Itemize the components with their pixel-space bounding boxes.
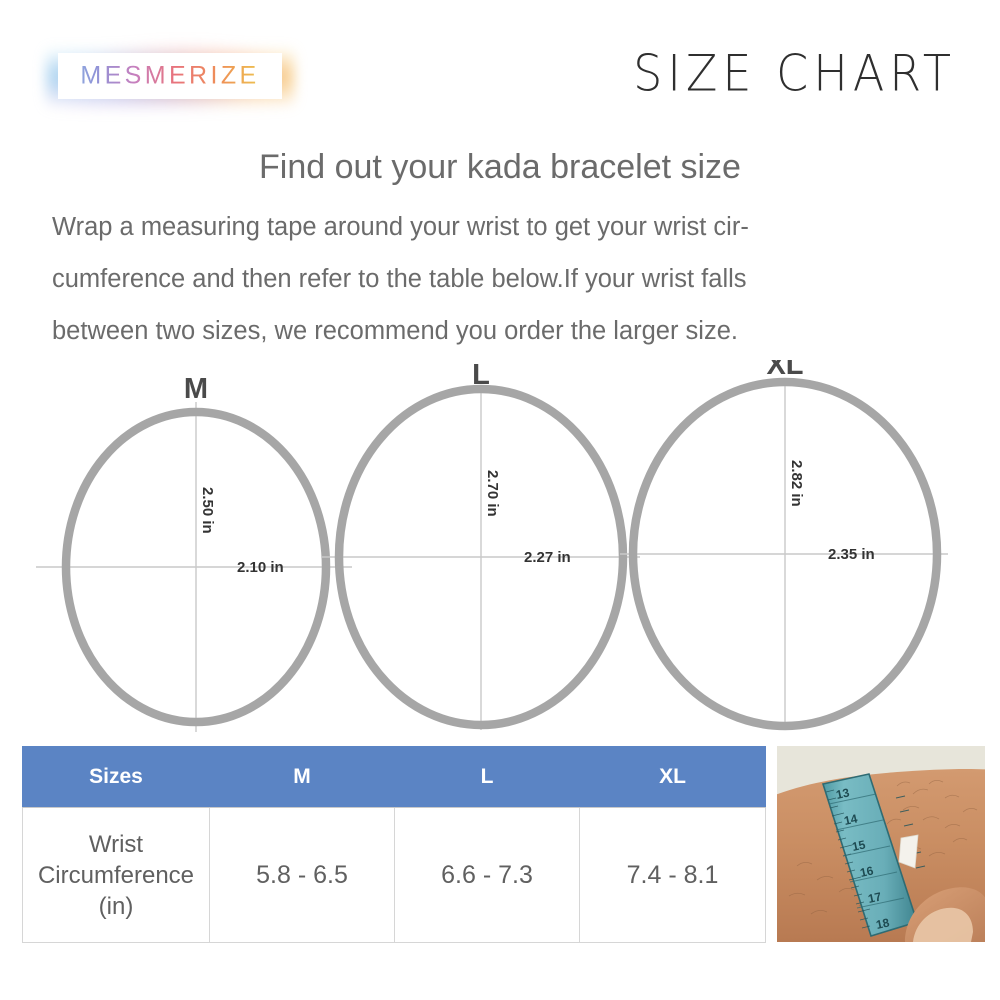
oval-diagram-m: M 2.50 in 2.10 in [36, 373, 352, 732]
oval-height-label-m: 2.50 in [199, 487, 216, 534]
oval-diagram-l: L 2.70 in 2.27 in [322, 360, 640, 730]
oval-size-label-l: L [472, 360, 490, 391]
oval-height-label-l: 2.70 in [484, 470, 501, 517]
table-header-row: Sizes M L XL [23, 747, 766, 808]
table-cell-xl-range: 7.4 - 8.1 [580, 808, 766, 943]
headline: Find out your kada bracelet size [0, 148, 1000, 187]
table-header-xl: XL [580, 747, 766, 808]
brand-logo: MESMERIZE [46, 42, 294, 110]
logo-text: MESMERIZE [46, 62, 294, 91]
wrist-measuring-tape-photo: 13 14 15 16 17 18 [777, 746, 985, 942]
page-title: SIZE CHART [633, 44, 956, 102]
oval-width-label-xl: 2.35 in [828, 546, 875, 563]
table-cell-m-range: 5.8 - 6.5 [210, 808, 395, 943]
table-header-m: M [210, 747, 395, 808]
table-cell-l-range: 6.6 - 7.3 [395, 808, 580, 943]
table-row: Wrist Circumference (in) 5.8 - 6.5 6.6 -… [23, 808, 766, 943]
oval-diagram-xl: XL 2.82 in 2.35 in [620, 360, 948, 728]
oval-size-label-m: M [184, 373, 208, 405]
oval-height-label-xl: 2.82 in [788, 460, 805, 507]
size-table: Sizes M L XL Wrist Circumference (in) 5.… [22, 746, 766, 943]
intro-paragraph: Wrap a measuring tape around your wrist … [52, 201, 950, 357]
tape-end-tab [899, 835, 918, 868]
table-header-sizes: Sizes [23, 747, 210, 808]
oval-width-label-l: 2.27 in [524, 549, 571, 566]
oval-diagram-group: M 2.50 in 2.10 in L 2.70 in 2.27 in XL 2… [0, 360, 1000, 740]
oval-size-label-xl: XL [766, 360, 803, 381]
table-header-l: L [395, 747, 580, 808]
oval-width-label-m: 2.10 in [237, 559, 284, 576]
table-row-label-wrist-circumference: Wrist Circumference (in) [23, 808, 210, 943]
